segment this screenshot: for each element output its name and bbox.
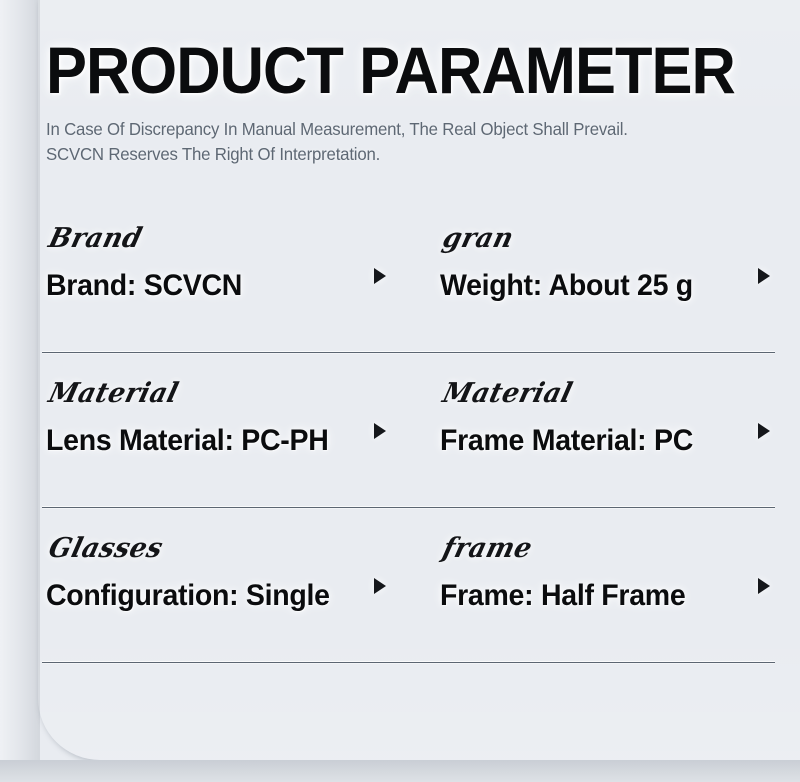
parameter-value: Weight: About 25 g (440, 270, 754, 302)
parameter-value: Brand: SCVCN (46, 270, 360, 302)
parameter-value: Frame Material: PC (440, 425, 754, 457)
parameter-value: Frame: Half Frame (440, 580, 754, 612)
parameter-cell-weight: gran Weight: About 25 g (440, 212, 770, 351)
script-label: frame (440, 520, 780, 562)
row-divider (42, 506, 775, 509)
parameter-cell-brand: Brand Brand: SCVCN (46, 212, 376, 351)
disclaimer-text: In Case Of Discrepancy In Manual Measure… (46, 117, 737, 168)
script-label: Material (440, 365, 780, 407)
triangle-right-icon (758, 423, 770, 439)
content-layer: PRODUCT PARAMETER In Case Of Discrepancy… (0, 0, 800, 782)
table-row: Brand Brand: SCVCN gran Weight: About 25… (0, 212, 800, 367)
script-label: Brand (46, 210, 386, 252)
row-divider (42, 351, 775, 354)
triangle-right-icon (758, 268, 770, 284)
triangle-right-icon (374, 268, 386, 284)
parameter-grid: Brand Brand: SCVCN gran Weight: About 25… (0, 212, 800, 677)
table-row: Material Lens Material: PC-PH Material F… (0, 367, 800, 522)
script-label: Glasses (46, 520, 386, 562)
triangle-right-icon (374, 578, 386, 594)
parameter-cell-configuration: Glasses Configuration: Single (46, 522, 376, 661)
parameter-cell-lens-material: Material Lens Material: PC-PH (46, 367, 376, 506)
parameter-cell-frame-material: Material Frame Material: PC (440, 367, 770, 506)
script-label: gran (440, 210, 780, 252)
parameter-value: Configuration: Single (46, 580, 360, 612)
disclaimer-line-1: In Case Of Discrepancy In Manual Measure… (46, 117, 737, 142)
row-divider (42, 661, 775, 664)
disclaimer-line-2: SCVCN Reserves The Right Of Interpretati… (46, 142, 737, 167)
parameter-cell-frame: frame Frame: Half Frame (440, 522, 770, 661)
page-title: PRODUCT PARAMETER (46, 40, 716, 101)
parameter-value: Lens Material: PC-PH (46, 425, 360, 457)
product-parameter-infographic: PRODUCT PARAMETER In Case Of Discrepancy… (0, 0, 800, 782)
script-label: Material (46, 365, 386, 407)
triangle-right-icon (758, 578, 770, 594)
header: PRODUCT PARAMETER In Case Of Discrepancy… (46, 40, 766, 167)
table-row: Glasses Configuration: Single frame Fram… (0, 522, 800, 677)
triangle-right-icon (374, 423, 386, 439)
